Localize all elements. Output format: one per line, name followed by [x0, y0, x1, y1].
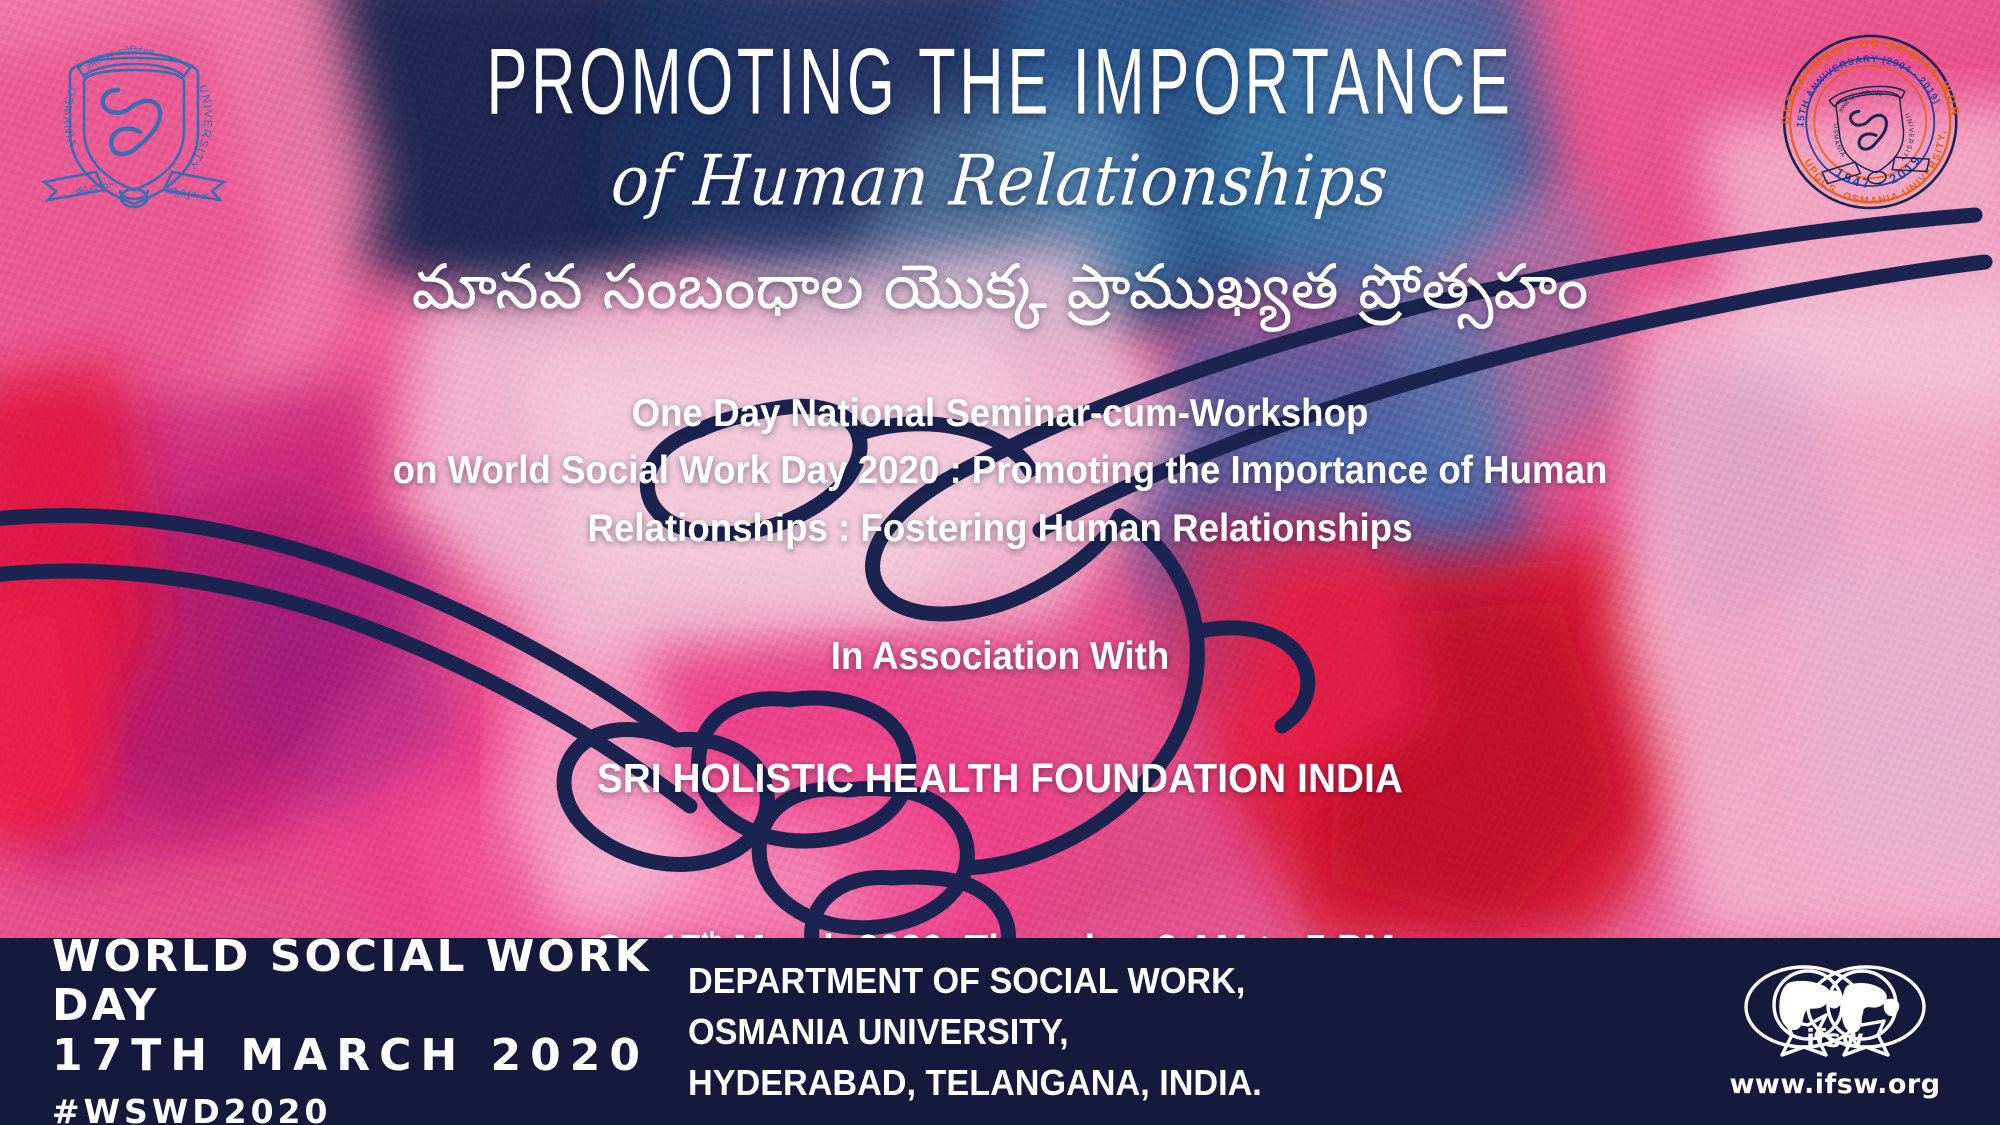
address-line-1: DEPARTMENT OF SOCIAL WORK,: [688, 955, 1621, 1006]
address-line-3: HYDERABAD, TELANGANA, INDIA.: [688, 1057, 1621, 1108]
ifsw-wordmark: ifsw: [1806, 1024, 1863, 1053]
telugu-heading: మానవ సంబంధాల యొక్క ప్రాముఖ్యత ప్రోత్సహం: [0, 250, 2000, 323]
wswd-title-line: WORLD SOCIAL WORK DAY: [52, 932, 660, 1031]
poster-canvas: तमसो मा ज्योतिर्गमय OSMANIA UNIVERSITY త…: [0, 0, 2000, 1125]
department-address-block: DEPARTMENT OF SOCIAL WORK, OSMANIA UNIVE…: [660, 955, 1670, 1108]
poster-headline: PROMOTING THE IMPORTANCE of Human Relati…: [0, 34, 2000, 212]
ifsw-url-text: www.ifsw.org: [1729, 1069, 1940, 1100]
seminar-line-3: Relationships : Fostering Human Relation…: [60, 500, 1940, 557]
seminar-title-block: One Day National Seminar-cum-Workshop on…: [60, 385, 1940, 557]
footer-bar: WORLD SOCIAL WORK DAY 17TH MARCH 2020 #W…: [0, 938, 2000, 1125]
wswd-date-line: 17TH MARCH 2020: [52, 1030, 660, 1082]
wswd-hashtag: #WSWD2020: [52, 1092, 660, 1125]
partner-organisation: SRI HOLISTIC HEALTH FOUNDATION INDIA: [60, 755, 1940, 802]
headline-line-2: of Human Relationships: [0, 146, 2000, 215]
association-label: In Association With: [60, 635, 1940, 679]
wswd-branding-block: WORLD SOCIAL WORK DAY 17TH MARCH 2020 #W…: [0, 932, 660, 1125]
ifsw-logo-block: ifsw www.ifsw.org: [1670, 963, 2000, 1100]
seminar-line-2: on World Social Work Day 2020 : Promotin…: [60, 442, 1940, 499]
ifsw-globes-icon: ifsw: [1730, 963, 1940, 1067]
headline-line-1: PROMOTING THE IMPORTANCE: [70, 34, 1930, 128]
address-line-2: OSMANIA UNIVERSITY,: [688, 1006, 1621, 1057]
seminar-line-1: One Day National Seminar-cum-Workshop: [60, 385, 1940, 442]
